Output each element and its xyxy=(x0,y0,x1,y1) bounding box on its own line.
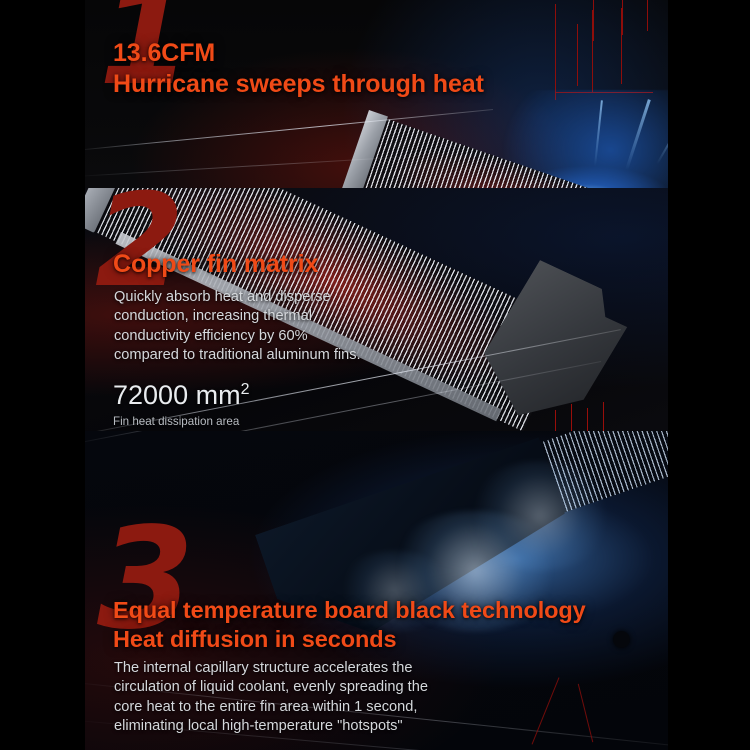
section-1-heading: 13.6CFM Hurricane sweeps through heat xyxy=(113,38,484,100)
stat-caption: Fin heat dissipation area xyxy=(113,414,249,429)
section-3-body: The internal capillary structure acceler… xyxy=(114,659,504,737)
body-line: circulation of liquid coolant, evenly sp… xyxy=(114,678,504,697)
section-3-vapor-chamber: 3 Equal temperature board black technolo… xyxy=(85,431,668,750)
content-panel: 1 13.6CFM Hurricane sweeps through heat xyxy=(85,0,668,750)
section-3-heading: Equal temperature board black technology… xyxy=(113,596,586,654)
section-2-body: Quickly absorb heat and disperse conduct… xyxy=(114,288,444,366)
stat-value: 72000 mm2 xyxy=(113,374,249,411)
coolant-mist xyxy=(465,461,615,571)
section-2-headline: Copper fin matrix xyxy=(113,248,318,280)
section-1-airflow: 1 13.6CFM Hurricane sweeps through heat xyxy=(85,0,668,188)
body-line: compared to traditional aluminum fins. xyxy=(114,346,444,365)
product-infographic-page: 1 13.6CFM Hurricane sweeps through heat xyxy=(0,0,750,750)
body-line: The internal capillary structure acceler… xyxy=(114,659,504,678)
stat-superscript: 2 xyxy=(241,381,250,398)
stat-number: 72000 mm xyxy=(113,380,241,410)
section-1-headline-line1: 13.6CFM xyxy=(113,38,484,68)
section-2-heading: Copper fin matrix xyxy=(113,248,318,280)
fan-hub-dot xyxy=(613,631,630,648)
body-line: conduction, increasing thermal xyxy=(114,307,444,326)
body-line: core heat to the entire fin area within … xyxy=(114,698,504,717)
section-3-headline-line2: Heat diffusion in seconds xyxy=(113,625,586,654)
section-2-stat: 72000 mm2 Fin heat dissipation area xyxy=(113,374,249,429)
section-3-headline-line1: Equal temperature board black technology xyxy=(113,596,586,625)
body-line: eliminating local high-temperature "hots… xyxy=(114,717,504,736)
body-line: Quickly absorb heat and disperse xyxy=(114,288,444,307)
section-2-copper-fins: 2 Copper fin matrix Quickly absorb heat … xyxy=(85,188,668,431)
section-1-headline-line2: Hurricane sweeps through heat xyxy=(113,68,484,100)
body-line: conductivity efficiency by 60% xyxy=(114,327,444,346)
